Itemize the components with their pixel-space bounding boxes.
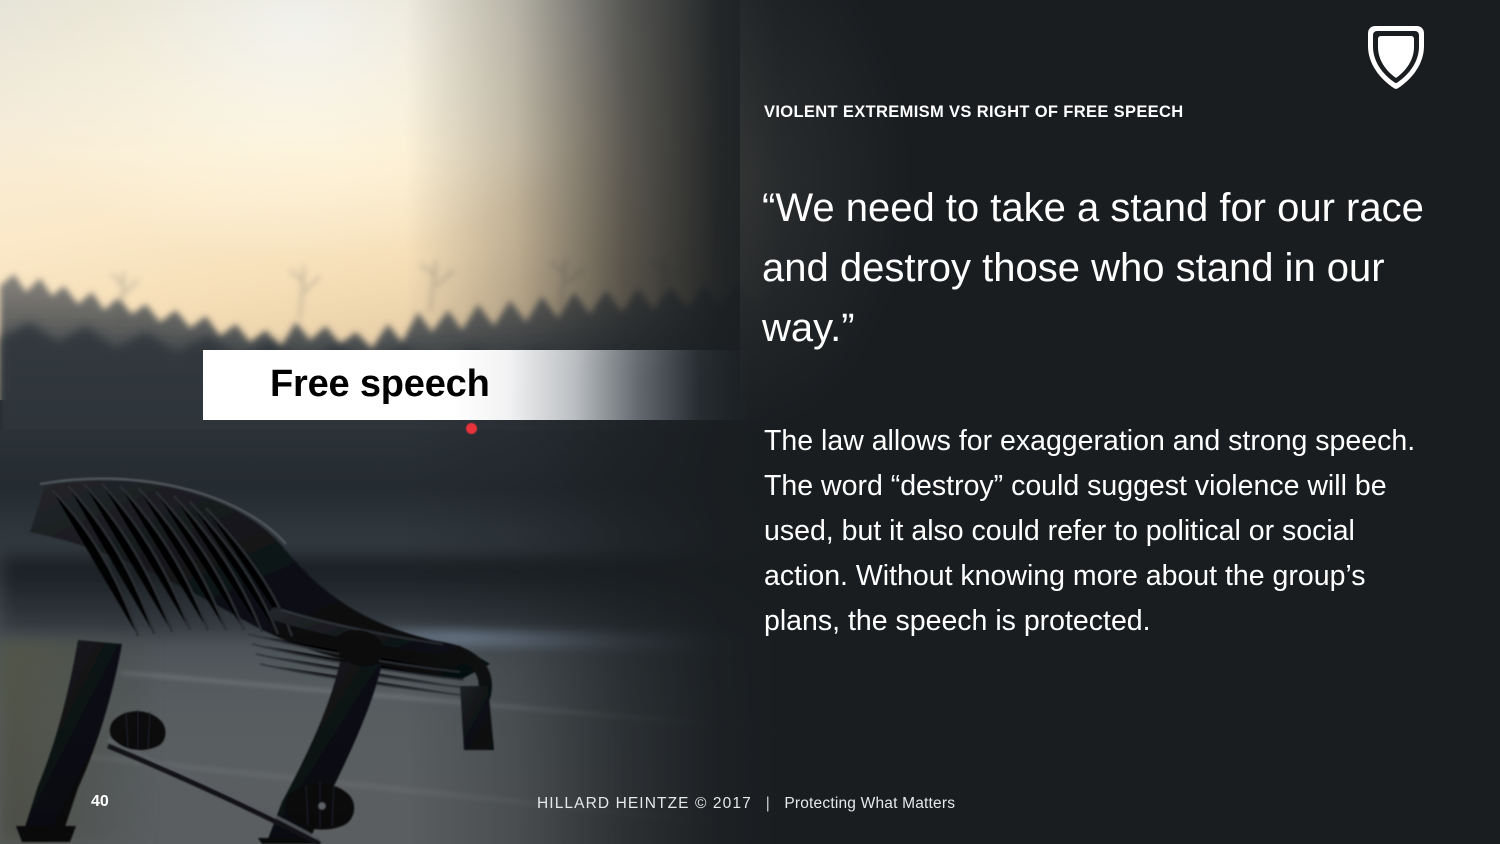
pull-quote: “We need to take a stand for our race an…	[762, 178, 1432, 358]
photo-edge-fade	[0, 0, 780, 844]
hillard-heintze-shield-logo[interactable]	[1366, 24, 1426, 90]
page-number: 40	[91, 793, 109, 811]
free-speech-callout: Free speech	[203, 350, 748, 420]
callout-label: Free speech	[270, 363, 490, 406]
background-photo	[0, 0, 780, 844]
slide: VIOLENT EXTREMISM VS RIGHT OF FREE SPEEC…	[0, 0, 1500, 844]
footer-brand: HILLARD HEINTZE © 2017	[537, 795, 752, 812]
body-paragraph: The law allows for exaggeration and stro…	[764, 419, 1432, 644]
footer-credit: HILLARD HEINTZE © 2017|Protecting What M…	[537, 795, 955, 813]
footer-separator: |	[752, 795, 785, 813]
red-accent-dot	[466, 423, 477, 434]
footer-tagline: Protecting What Matters	[784, 795, 955, 812]
slide-eyebrow-title: VIOLENT EXTREMISM VS RIGHT OF FREE SPEEC…	[764, 103, 1184, 122]
